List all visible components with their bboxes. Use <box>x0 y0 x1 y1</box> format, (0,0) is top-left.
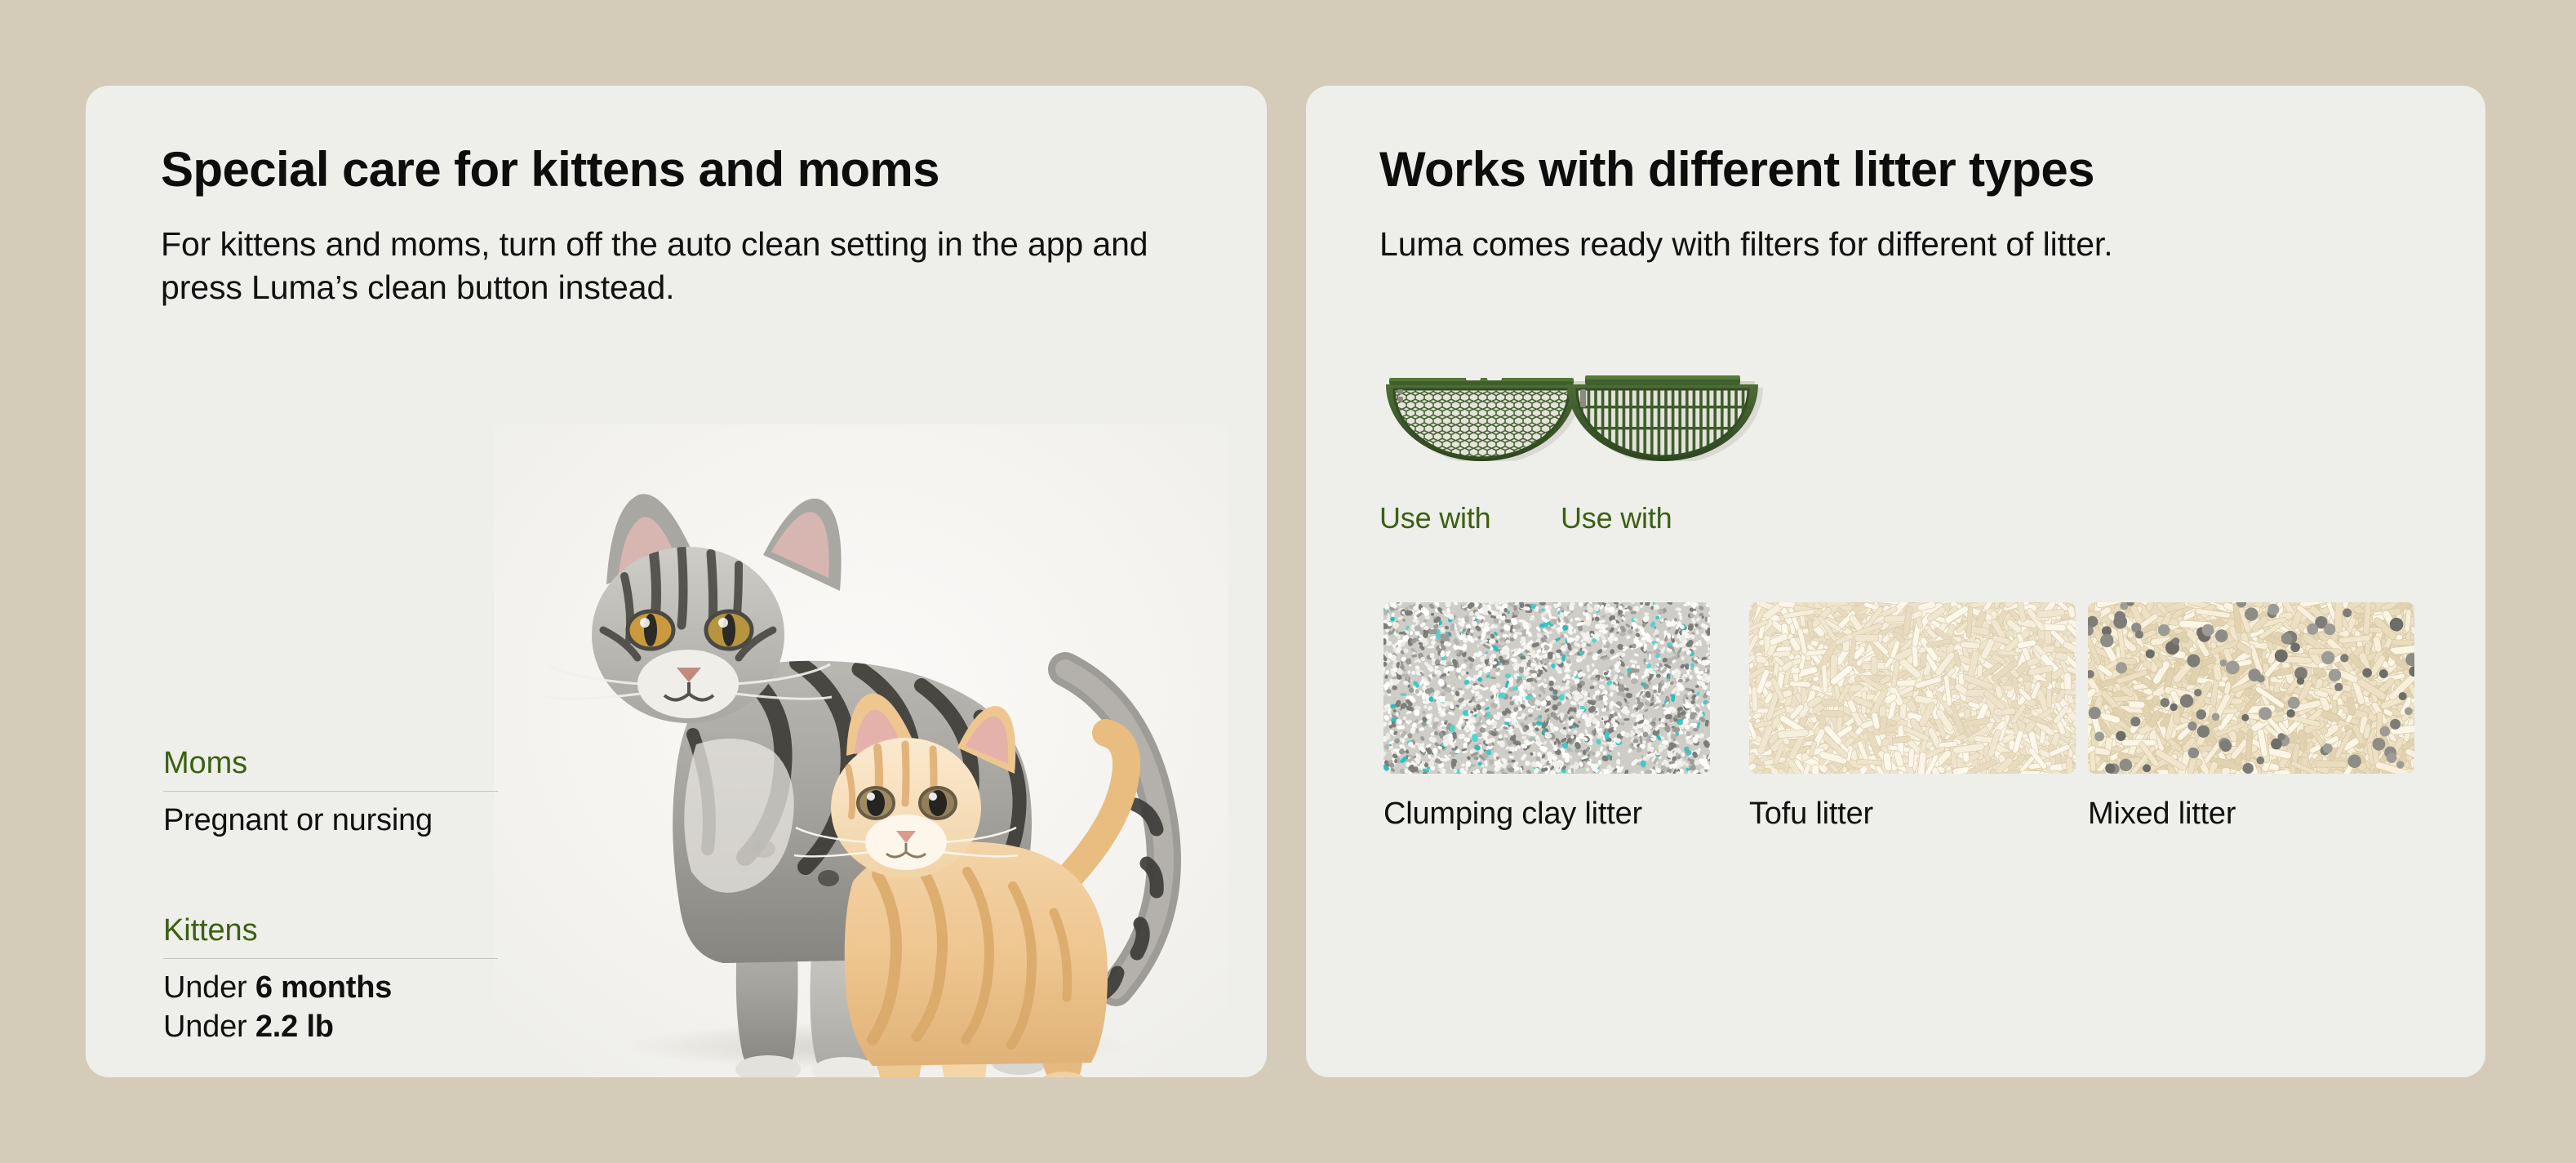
honeycomb-mesh-filter-icon <box>1379 370 1583 461</box>
spec-kittens-age: Under 6 months <box>163 969 498 1008</box>
litter-type-tofu: Tofu litter <box>1749 602 2076 829</box>
spec-kittens-weight: Under 2.2 lb <box>163 1008 498 1047</box>
filter-option-honeycomb: Use with <box>1379 370 1583 533</box>
spec-kittens-label: Kittens <box>163 914 498 948</box>
spec-text: Under <box>163 1010 255 1044</box>
spec-moms-label: Moms <box>163 747 498 781</box>
spec-kittens: Kittens Under 6 months Under 2.2 lb <box>163 914 498 1047</box>
page-title: Special care for kittens and moms <box>161 145 939 194</box>
litter-caption-2: Mixed litter <box>2088 798 2414 829</box>
spec-emphasis: 6 months <box>255 970 392 1005</box>
spec-divider <box>163 958 498 959</box>
filter-option-slotted: Use with <box>1561 370 1765 533</box>
spec-divider <box>163 791 498 792</box>
spec-text: Pregnant or nursing <box>163 803 433 837</box>
litter-caption-1: Tofu litter <box>1749 798 2076 829</box>
litter-caption-0: Clumping clay litter <box>1383 798 1710 829</box>
slotted-bar-filter-icon <box>1561 370 1765 461</box>
spec-moms: Moms Pregnant or nursing <box>163 747 498 841</box>
kitten-and-moms-card: Special care for kittens and moms For ki… <box>86 86 1267 1077</box>
left-card-subtitle: For kittens and moms, turn off the auto … <box>161 223 1222 310</box>
use-with-label-0: Use with <box>1379 504 1583 533</box>
use-with-label-1: Use with <box>1561 504 1765 533</box>
spec-moms-value: Pregnant or nursing <box>163 801 498 841</box>
page-root: Special care for kittens and moms For ki… <box>0 0 2576 1163</box>
litter-type-mixed: Mixed litter <box>2088 602 2414 829</box>
spec-emphasis: 2.2 lb <box>255 1010 334 1044</box>
spec-text: Under <box>163 970 255 1005</box>
cat-and-kitten-photo <box>494 424 1228 1077</box>
clumping-clay-litter-photo <box>1383 602 1710 774</box>
litter-type-clumping-clay: Clumping clay litter <box>1383 602 1710 829</box>
litter-types-subtitle: Luma comes ready with filters for differ… <box>1379 223 2457 266</box>
mixed-litter-photo <box>2088 602 2414 774</box>
litter-types-title: Works with different litter types <box>1379 145 2094 194</box>
tofu-litter-photo <box>1749 602 2076 774</box>
litter-types-card: Works with different litter types Luma c… <box>1306 86 2485 1077</box>
